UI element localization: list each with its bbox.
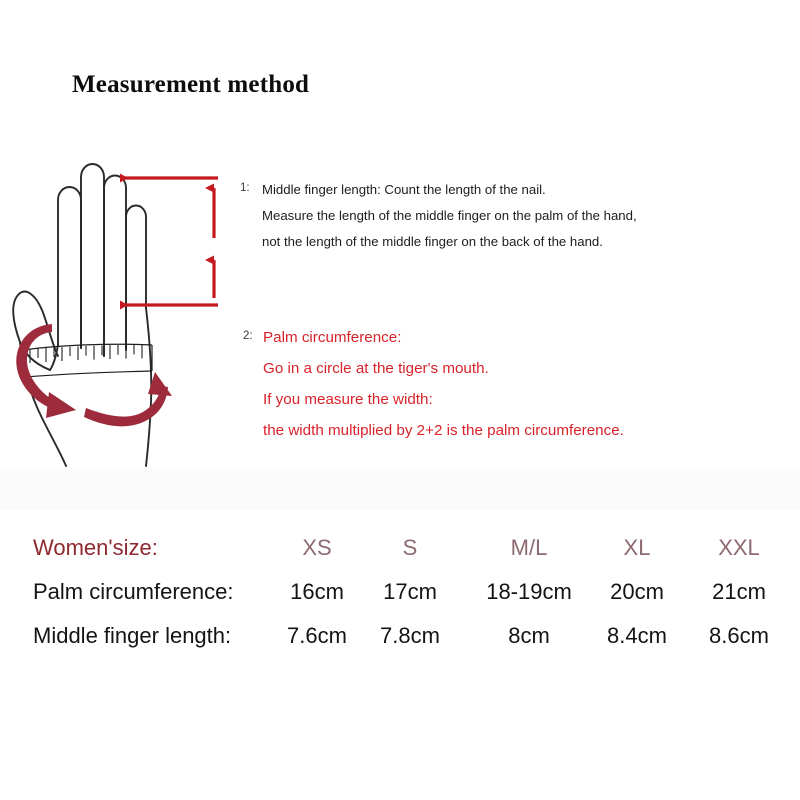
size-table: Women'size: XS S M/L XL XXL Palm circumf… [0,528,800,663]
table-header-ml: M/L [511,528,548,568]
table-cell-palm-ml: 18-19cm [486,572,572,612]
table-cell-finger-ml: 8cm [508,616,550,656]
table-row-label-middle-finger-length: Middle finger length: [33,616,231,656]
note-2-line-4: the width multiplied by 2+2 is the palm … [263,415,624,446]
table-cell-palm-xl: 20cm [610,572,664,612]
table-cell-finger-xxl: 8.6cm [709,616,769,656]
note-1-text: Middle finger length: Count the length o… [262,177,637,255]
note-2-line-3: If you measure the width: [263,384,624,415]
note-1-line-3: not the length of the middle finger on t… [262,229,637,255]
note-2-text: Palm circumference: Go in a circle at th… [263,322,624,446]
table-cell-palm-s: 17cm [383,572,437,612]
table-cell-finger-s: 7.8cm [380,616,440,656]
palm-circumference-arrow-left [16,324,76,418]
middle-finger-length-arrow [120,178,218,305]
diagram-base-band [0,468,800,510]
hand-measurement-diagram [0,160,232,472]
note-2-marker: 2: [243,330,253,342]
palm-measuring-tape [23,344,152,377]
table-header-xl: XL [624,528,651,568]
palm-circumference-arrow-right [84,372,172,426]
note-1-marker: 1: [240,182,250,194]
table-header-xs: XS [302,528,331,568]
note-1-line-1: Middle finger length: Count the length o… [262,177,637,203]
page-title: Measurement method [72,71,309,99]
table-cell-palm-xs: 16cm [290,572,344,612]
table-row-middle-finger-length: Middle finger length: 7.6cm 7.8cm 8cm 8.… [0,616,800,658]
table-cell-finger-xs: 7.6cm [287,616,347,656]
note-2-line-2: Go in a circle at the tiger's mouth. [263,353,624,384]
table-cell-palm-xxl: 21cm [712,572,766,612]
table-row-label-womens-size: Women'size: [33,528,158,568]
table-row-palm-circumference: Palm circumference: 16cm 17cm 18-19cm 20… [0,572,800,614]
page-root: Measurement method [0,0,800,800]
note-2-line-1: Palm circumference: [263,322,624,353]
table-row-label-palm-circumference: Palm circumference: [33,572,234,612]
table-header-s: S [403,528,418,568]
table-cell-finger-xl: 8.4cm [607,616,667,656]
note-1-line-2: Measure the length of the middle finger … [262,203,637,229]
table-row-header: Women'size: XS S M/L XL XXL [0,528,800,570]
table-header-xxl: XXL [718,528,760,568]
